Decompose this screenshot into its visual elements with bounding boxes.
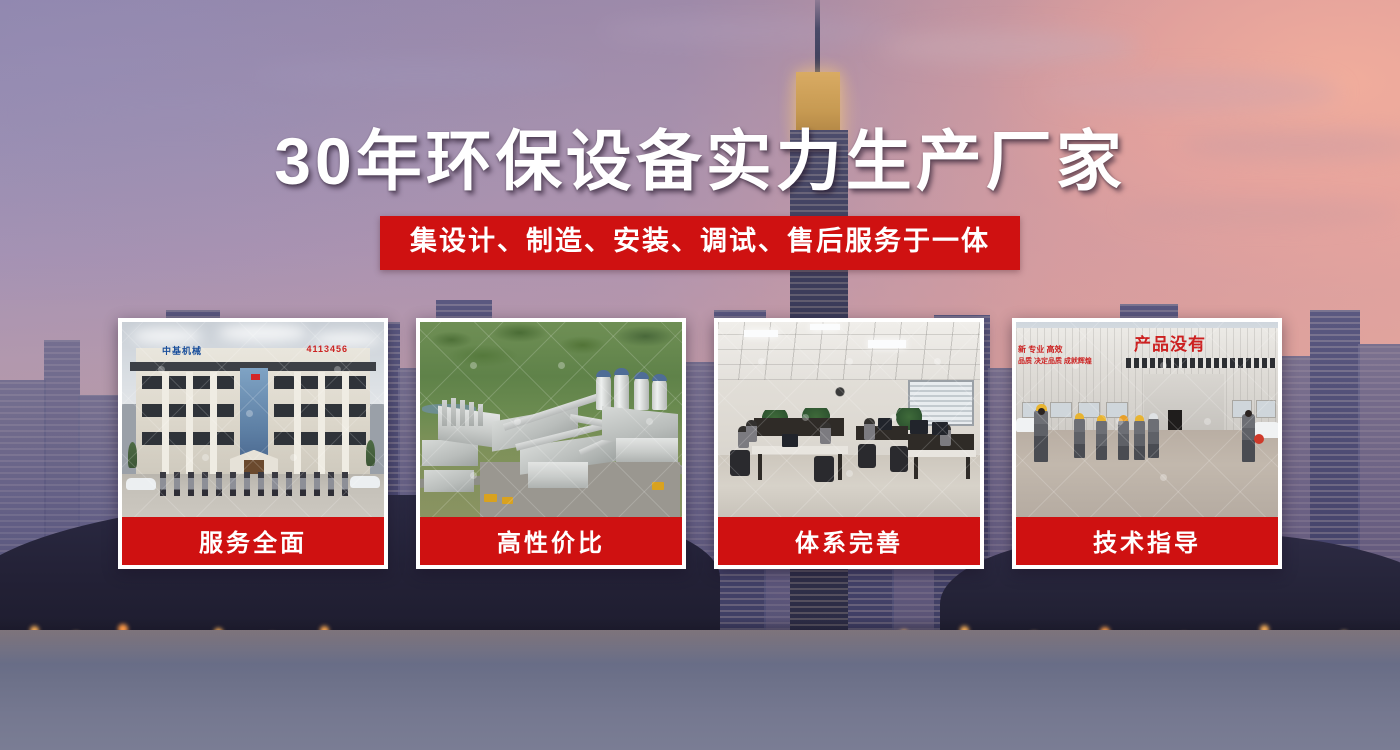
building-signage-text: 中基机械	[162, 344, 202, 357]
subtitle-banner: 集设计、制造、安装、调试、售后服务于一体	[380, 216, 1020, 270]
promo-banner: 30年环保设备实力生产厂家 集设计、制造、安装、调试、售后服务于一体 中基机械 …	[0, 0, 1400, 750]
card-photo-office-interior	[718, 322, 980, 517]
card-caption: 高性价比	[420, 517, 682, 565]
card-caption: 体系完善	[718, 517, 980, 565]
wall-logo-icon	[822, 382, 858, 410]
factory-slogan-text: 产品没有	[1134, 330, 1206, 355]
card-caption: 服务全面	[122, 517, 384, 565]
card-photo-office-building: 中基机械 4113456	[122, 322, 384, 517]
building-phone-text: 4113456	[306, 344, 348, 354]
card-photo-factory-workers: 产品没有 新 专业 高效 品质 决定品质 成就辉煌	[1016, 322, 1278, 517]
card-photo-industrial-plant	[420, 322, 682, 517]
feature-card-list: 中基机械 4113456	[118, 318, 1282, 569]
feature-card[interactable]: 产品没有 新 专业 高效 品质 决定品质 成就辉煌	[1012, 318, 1282, 569]
feature-card[interactable]: 体系完善	[714, 318, 984, 569]
card-caption: 技术指导	[1016, 517, 1278, 565]
feature-card[interactable]: 高性价比	[416, 318, 686, 569]
page-title: 30年环保设备实力生产厂家	[274, 128, 1125, 194]
feature-card[interactable]: 中基机械 4113456	[118, 318, 388, 569]
